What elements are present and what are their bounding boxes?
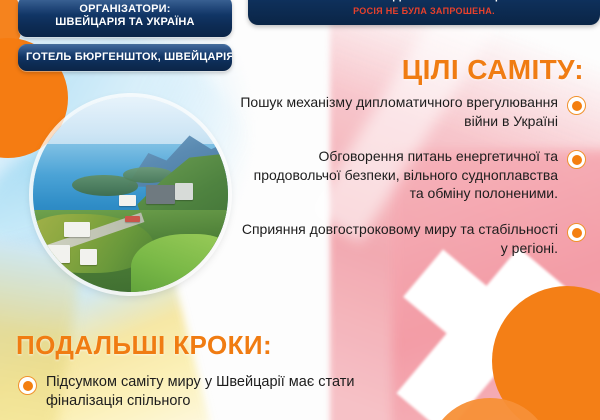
- participants-line-2: МІЖНАРОДНИХ ОРГАНІЗАЦІЙ.: [258, 0, 590, 3]
- russia-not-invited-note: РОСІЯ НЕ БУЛА ЗАПРОШЕНА.: [258, 6, 590, 16]
- photo-hotel-annex: [175, 183, 193, 201]
- infographic-canvas: ОРГАНІЗАТОРИ: ШВЕЙЦАРІЯ ТА УКРАЇНА ГОТЕЛ…: [0, 0, 600, 420]
- photo-building-4: [80, 249, 98, 265]
- burgenstock-photo: [33, 97, 228, 292]
- photo-building-1: [119, 195, 137, 207]
- bullet-dot-icon: [567, 150, 586, 169]
- orange-circle-bottom-right-decor: [492, 286, 600, 420]
- pill-organizers-line-2: ШВЕЙЦАРІЯ ТА УКРАЇНА: [26, 16, 224, 29]
- photo-building-2: [64, 222, 89, 238]
- photo-building-red: [125, 216, 141, 222]
- goals-list: Пошук механізму дипломатичного врегулюва…: [222, 93, 586, 274]
- goal-item: Пошук механізму дипломатичного врегулюва…: [222, 93, 586, 130]
- goals-heading: ЦІЛІ САМІТУ:: [402, 54, 584, 86]
- goal-item: Сприяння довгостроковому миру та стабіль…: [222, 220, 586, 257]
- orange-circle-bottom-decor: [430, 398, 550, 420]
- bullet-dot-icon: [18, 376, 37, 395]
- participants-panel: ПРЕДСТАВНИКІВ ЄС, НАТО, ООН ТА ІНШИХ МІЖ…: [248, 0, 600, 25]
- photo-hotel-main: [146, 185, 175, 205]
- summit-facts-pill-stack: ОРГАНІЗАТОРИ: ШВЕЙЦАРІЯ ТА УКРАЇНА ГОТЕЛ…: [18, 0, 232, 78]
- next-steps-list: Підсумком саміту миру у Швейцарії має ст…: [18, 373, 438, 412]
- pill-venue: ГОТЕЛЬ БЮРГЕНШТОК, ШВЕЙЦАРІЯ: [18, 44, 232, 71]
- pill-organizers: ОРГАНІЗАТОРИ: ШВЕЙЦАРІЯ ТА УКРАЇНА: [18, 0, 232, 37]
- pill-organizers-line-1: ОРГАНІЗАТОРИ:: [26, 3, 224, 16]
- goal-item-text: Пошук механізму дипломатичного врегулюва…: [236, 93, 558, 130]
- photo-content: [33, 97, 228, 292]
- pill-venue-line-1: ГОТЕЛЬ БЮРГЕНШТОК, ШВЕЙЦАРІЯ: [26, 51, 224, 64]
- next-steps-heading: ПОДАЛЬШІ КРОКИ:: [16, 330, 272, 361]
- goal-item-text: Обговорення питань енергетичної та продо…: [236, 147, 558, 203]
- bullet-dot-icon: [567, 223, 586, 242]
- goal-item: Обговорення питань енергетичної та продо…: [222, 147, 586, 203]
- photo-building-3: [47, 245, 70, 263]
- goal-item-text: Сприяння довгостроковому миру та стабіль…: [236, 220, 558, 257]
- bullet-dot-icon: [567, 96, 586, 115]
- next-step-item-text: Підсумком саміту миру у Швейцарії має ст…: [46, 373, 406, 412]
- next-step-item: Підсумком саміту миру у Швейцарії має ст…: [18, 373, 438, 412]
